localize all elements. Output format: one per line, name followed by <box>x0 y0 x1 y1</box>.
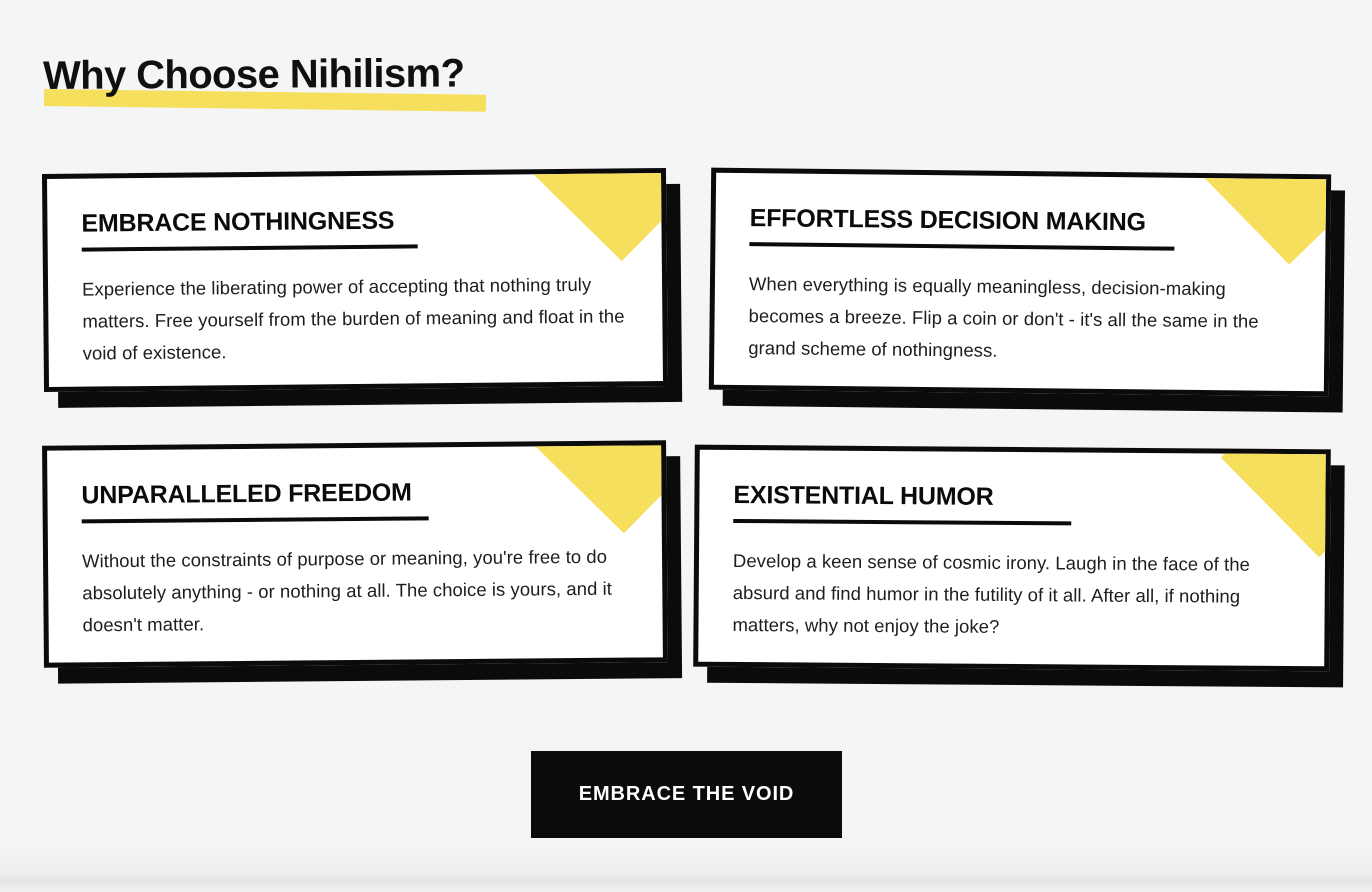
card-body: EXISTENTIAL HUMOR Develop a keen sense o… <box>698 450 1325 646</box>
nihilism-features-page: Why Choose Nihilism? EMBRACE NOTHINGNESS… <box>0 0 1372 892</box>
embrace-the-void-button[interactable]: EMBRACE THE VOID <box>531 751 842 838</box>
page-title-wrap: Why Choose Nihilism? <box>43 52 464 114</box>
card-title-rule <box>82 244 418 251</box>
feature-card-unparalleled-freedom[interactable]: UNPARALLELED FREEDOM Without the constra… <box>42 440 668 667</box>
card-title: EXISTENTIAL HUMOR <box>733 480 993 512</box>
feature-card-embrace-nothingness[interactable]: EMBRACE NOTHINGNESS Experience the liber… <box>42 168 668 392</box>
card-title-rule <box>82 516 429 523</box>
feature-card-existential-humor[interactable]: EXISTENTIAL HUMOR Develop a keen sense o… <box>693 445 1331 672</box>
card-description: Experience the liberating power of accep… <box>82 268 629 369</box>
card-title: UNPARALLELED FREEDOM <box>81 478 412 511</box>
card-title: EFFORTLESS DECISION MAKING <box>750 203 1147 237</box>
feature-card-effortless-decision-making[interactable]: EFFORTLESS DECISION MAKING When everythi… <box>709 168 1331 397</box>
card-body: EMBRACE NOTHINGNESS Experience the liber… <box>47 173 663 370</box>
card-body: UNPARALLELED FREEDOM Without the constra… <box>47 445 663 641</box>
card-title-rule <box>733 519 1071 525</box>
card-title: EMBRACE NOTHINGNESS <box>81 206 394 239</box>
card-description: Without the constraints of purpose or me… <box>82 541 629 642</box>
card-description: Develop a keen sense of cosmic irony. La… <box>732 545 1291 645</box>
card-body: EFFORTLESS DECISION MAKING When everythi… <box>714 173 1326 371</box>
page-title: Why Choose Nihilism? <box>43 49 465 100</box>
card-title-rule <box>749 242 1174 251</box>
page-bottom-band <box>0 840 1372 892</box>
card-description: When everything is equally meaningless, … <box>748 268 1291 370</box>
